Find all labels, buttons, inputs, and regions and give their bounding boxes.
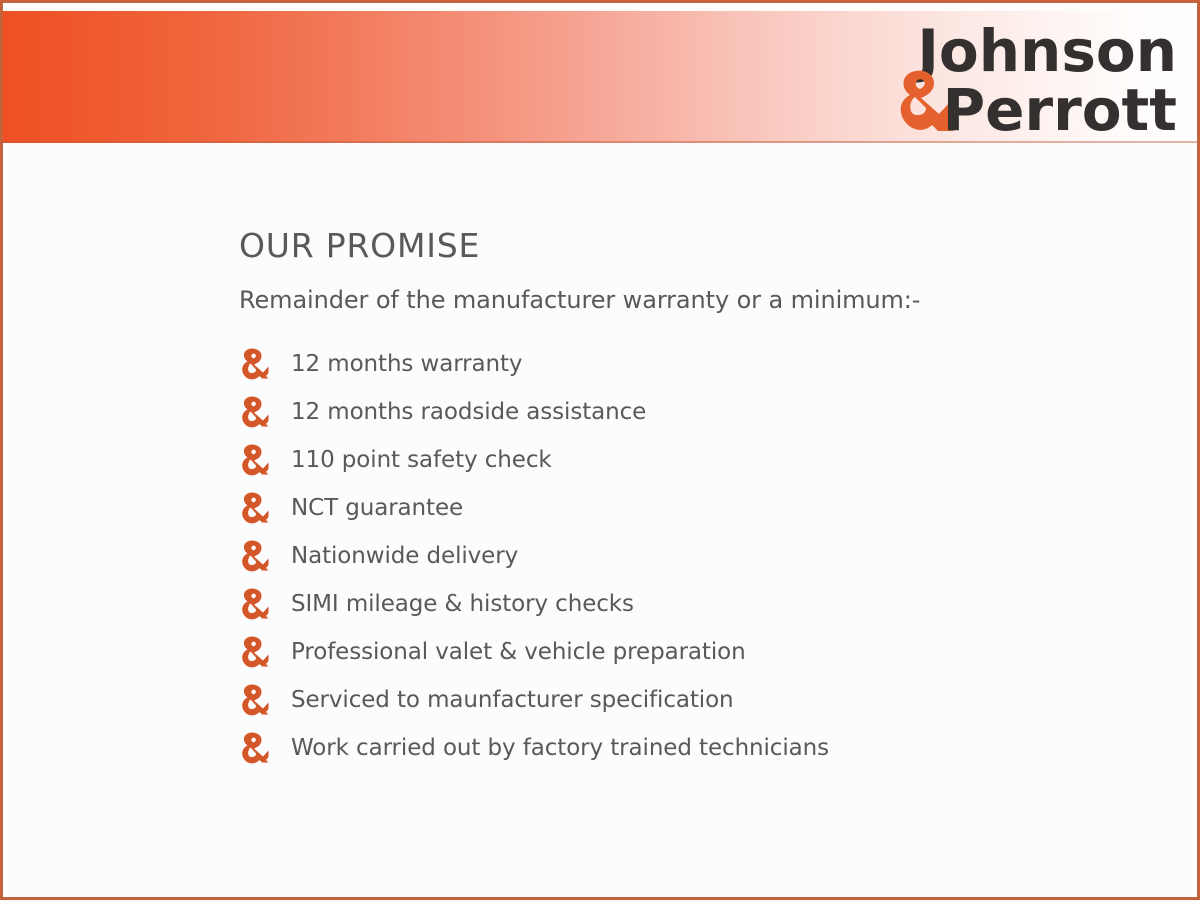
list-item-label: Professional valet & vehicle preparation	[291, 639, 746, 665]
list-item-label: Serviced to maunfacturer specification	[291, 687, 734, 713]
list-item-label: 12 months raodside assistance	[291, 399, 646, 425]
list-item-label: Work carried out by factory trained tech…	[291, 735, 829, 761]
logo-text-perrott: Perrott	[943, 76, 1177, 137]
ampersand-bullet-icon	[239, 635, 269, 669]
page-title: OUR PROMISE	[239, 228, 1200, 264]
list-item-label: SIMI mileage & history checks	[291, 591, 634, 617]
list-item: NCT guarantee	[239, 484, 1200, 532]
list-item: SIMI mileage & history checks	[239, 580, 1200, 628]
list-item: Work carried out by factory trained tech…	[239, 724, 1200, 772]
ampersand-bullet-icon	[239, 587, 269, 621]
top-white-strip	[3, 3, 1200, 11]
list-item: Nationwide delivery	[239, 532, 1200, 580]
list-item: 12 months raodside assistance	[239, 388, 1200, 436]
list-item: 110 point safety check	[239, 436, 1200, 484]
ampersand-bullet-icon	[239, 683, 269, 717]
promise-subtitle: Remainder of the manufacturer warranty o…	[239, 286, 1200, 314]
johnson-perrott-logo: Johnson Perrott	[894, 17, 1179, 137]
ampersand-bullet-icon	[239, 395, 269, 429]
ampersand-bullet-icon	[239, 731, 269, 765]
list-item: Serviced to maunfacturer specification	[239, 676, 1200, 724]
list-item-label: 12 months warranty	[291, 351, 522, 377]
promise-page: Johnson Perrott OUR PROMISE Remainder of…	[0, 0, 1200, 900]
ampersand-bullet-icon	[239, 443, 269, 477]
ampersand-bullet-icon	[239, 491, 269, 525]
ampersand-bullet-icon	[239, 539, 269, 573]
content-area: OUR PROMISE Remainder of the manufacture…	[3, 143, 1200, 900]
list-item-label: 110 point safety check	[291, 447, 552, 473]
list-item: Professional valet & vehicle preparation	[239, 628, 1200, 676]
list-item-label: NCT guarantee	[291, 495, 463, 521]
list-item-label: Nationwide delivery	[291, 543, 518, 569]
promise-list: 12 months warranty 12 months raodside as…	[239, 340, 1200, 772]
list-item: 12 months warranty	[239, 340, 1200, 388]
ampersand-bullet-icon	[239, 347, 269, 381]
logo-text-johnson: Johnson	[913, 17, 1177, 85]
